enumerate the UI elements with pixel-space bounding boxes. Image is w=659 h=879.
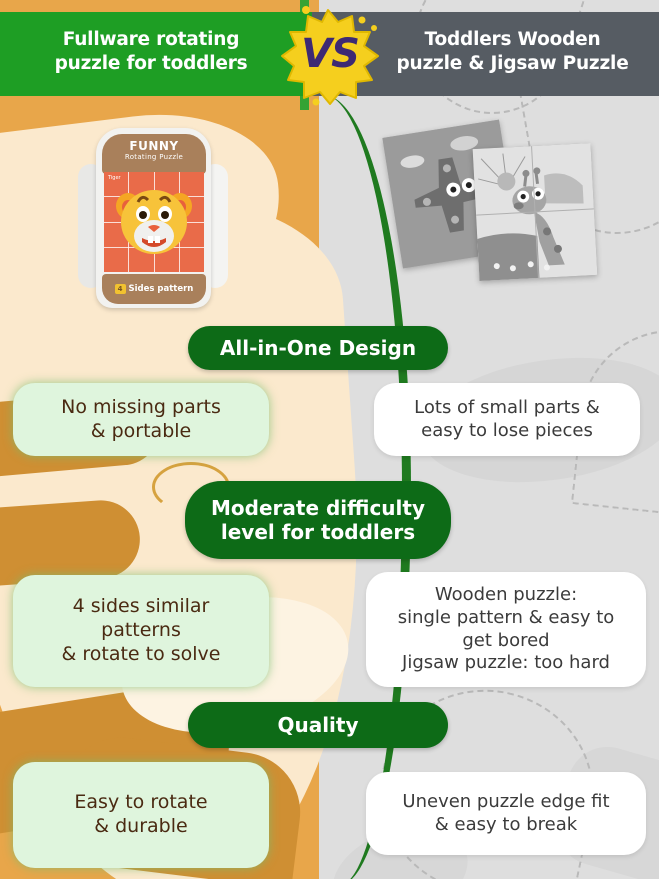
vs-label: VS: [278, 6, 382, 106]
toy-brand-name: FUNNY: [102, 139, 206, 153]
sides-pattern-label: Sides pattern: [129, 284, 194, 294]
toy-corner-label: Tiger: [108, 175, 121, 181]
giraffe-jigsaw-board: [473, 143, 598, 281]
toy-brand-tagline: Rotating Puzzle: [102, 153, 206, 161]
toy-footer-panel: 4 Sides pattern: [102, 274, 206, 304]
pro-pill-easy-to-rotate: Easy to rotate & durable: [13, 762, 269, 868]
toy-puzzle-grid: [104, 172, 204, 272]
comparison-infographic: FUNNY Rotating Puzzle Tig: [0, 0, 659, 879]
pro-pill-4-sides-similar: 4 sides similar patterns & rotate to sol…: [13, 575, 269, 687]
category-pill-quality: Quality: [188, 702, 448, 748]
con-pill-uneven-edge: Uneven puzzle edge fit & easy to break: [366, 772, 646, 855]
pro-pill-no-missing-parts: No missing parts & portable: [13, 383, 269, 456]
con-pill-small-parts: Lots of small parts & easy to lose piece…: [374, 383, 640, 456]
toy-brand-panel: FUNNY Rotating Puzzle: [102, 134, 206, 174]
header-band: Fullware rotating puzzle for toddlers To…: [0, 0, 659, 105]
wooden-puzzle-product-image: [392, 118, 597, 303]
con-pill-single-pattern: Wooden puzzle: single pattern & easy to …: [366, 572, 646, 687]
category-pill-all-in-one: All-in-One Design: [188, 326, 448, 370]
vs-badge: VS: [278, 6, 382, 106]
category-pill-difficulty: Moderate difficulty level for toddlers: [185, 481, 451, 559]
header-right-title: Toddlers Wooden puzzle & Jigsaw Puzzle: [370, 28, 655, 78]
header-left-title: Fullware rotating puzzle for toddlers: [6, 28, 296, 78]
rotating-puzzle-product-image: FUNNY Rotating Puzzle Tig: [78, 128, 228, 308]
sides-count-badge: 4: [115, 284, 126, 294]
